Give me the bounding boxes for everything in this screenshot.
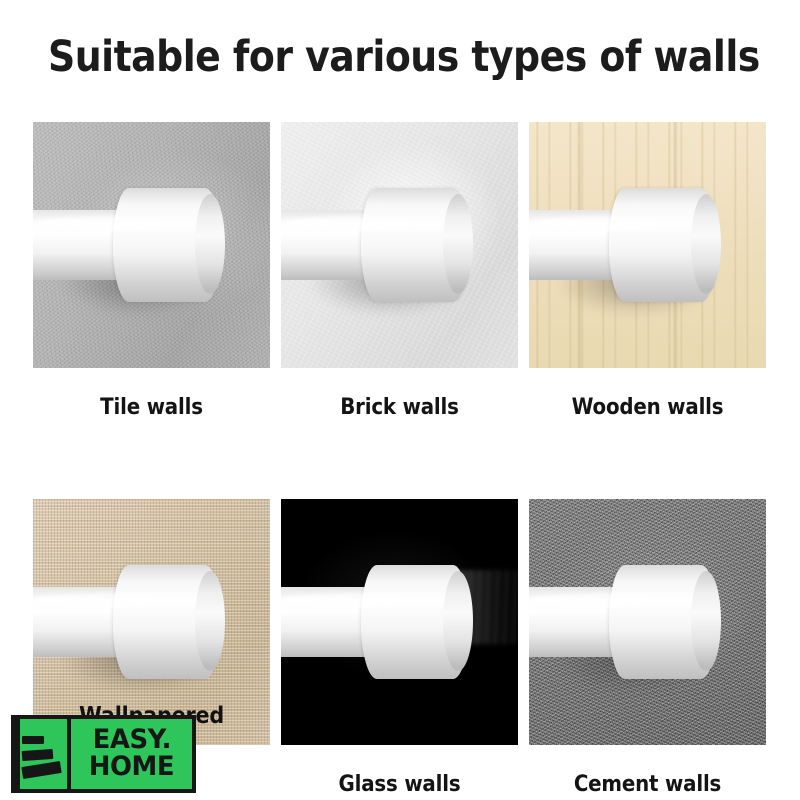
page-title: Suitable for various types of walls [48,32,752,82]
caption-wooden-walls: Wooden walls [541,395,754,420]
logo-bar [22,736,44,744]
gallery-cell-cement[interactable]: Cement walls [529,499,766,797]
rod-cap [691,194,721,294]
gallery-cell-glass[interactable]: Glass walls [281,499,518,797]
photo-tile-wall[interactable] [33,122,270,368]
caption-brick-walls: Brick walls [293,395,506,420]
gallery-cell-wooden[interactable]: Wooden walls [529,122,766,420]
rod-cap [443,571,473,671]
tension-rod-cement [529,563,729,681]
tension-rod-glass [281,563,481,681]
rod-cap [443,194,473,294]
rod-cap [195,194,225,294]
logo-bar [22,749,54,761]
logo-line-home: HOME [89,754,174,780]
logo-bar [21,761,61,779]
rod-highlight [529,216,705,231]
rod-cap [691,571,721,671]
tension-rod-wallpapered [33,563,233,681]
logo-wordmark: EASY. HOME [71,719,192,789]
rod-highlight [529,593,705,608]
brand-logo[interactable]: EASY. HOME [11,715,196,793]
gallery-cell-tile[interactable]: Tile walls [33,122,270,420]
rod-highlight [281,216,457,231]
tension-rod-brick [281,186,481,304]
photo-glass-wall[interactable] [281,499,518,745]
photo-wallpapered-wall[interactable]: Wallpapered [33,499,270,745]
photo-cement-wall[interactable] [529,499,766,745]
caption-tile-walls: Tile walls [45,395,258,420]
photo-brick-wall[interactable] [281,122,518,368]
gallery-row: Tile walls Brick walls [33,122,767,420]
logo-mark-icon [15,719,67,789]
rod-highlight [33,216,209,231]
rod-highlight [281,593,457,608]
logo-bar [15,719,20,789]
photo-wooden-wall[interactable] [529,122,766,368]
gallery-cell-brick[interactable]: Brick walls [281,122,518,420]
tension-rod-wooden [529,186,729,304]
rod-highlight [33,593,209,608]
caption-cement-walls: Cement walls [541,772,754,797]
wall-type-gallery: Tile walls Brick walls [33,122,767,797]
caption-glass-walls: Glass walls [293,772,506,797]
rod-cap [195,571,225,671]
tension-rod-tile [33,186,233,304]
